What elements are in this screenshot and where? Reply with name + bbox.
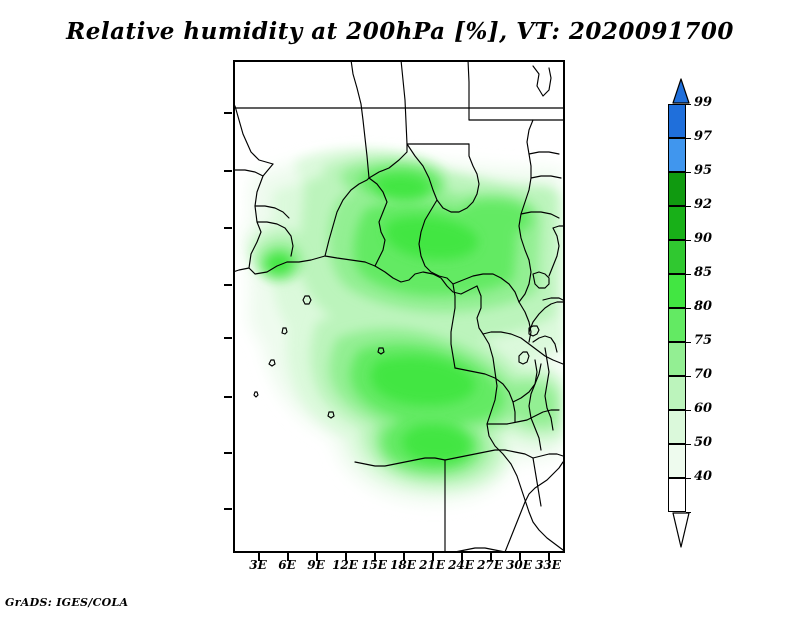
colorbar-tick-bottom bbox=[686, 512, 691, 513]
colorbar-label-75: 75 bbox=[694, 333, 712, 348]
colorbar-label-80: 80 bbox=[694, 299, 712, 314]
colorbar-tick-99 bbox=[686, 104, 691, 105]
humidity-map bbox=[233, 60, 565, 553]
colorbar-tick-50 bbox=[686, 444, 691, 445]
map-panel bbox=[233, 60, 565, 553]
colorbar-segment-75 bbox=[668, 342, 686, 376]
colorbar-label-95: 95 bbox=[694, 163, 712, 178]
colorbar-tick-40 bbox=[686, 478, 691, 479]
colorbar-segment-80 bbox=[668, 308, 686, 342]
colorbar-min-arrow bbox=[672, 512, 690, 548]
colorbar-label-40: 40 bbox=[694, 469, 712, 484]
colorbar-segment-90 bbox=[668, 240, 686, 274]
y-tick-15N bbox=[224, 170, 232, 172]
colorbar-segment-40 bbox=[668, 478, 686, 512]
colorbar-tick-70 bbox=[686, 376, 691, 377]
screenshot-root: Relative humidity at 200hPa [%], VT: 202… bbox=[0, 0, 800, 618]
colorbar-label-92: 92 bbox=[694, 197, 712, 212]
y-tick-EQ bbox=[224, 337, 232, 339]
colorbar-label-99: 99 bbox=[694, 95, 712, 110]
colorbar-tick-60 bbox=[686, 410, 691, 411]
y-tick-10S bbox=[224, 452, 232, 454]
colorbar-segment-99 bbox=[668, 104, 686, 138]
y-tick-15S bbox=[224, 508, 232, 510]
colorbar-segment-85 bbox=[668, 274, 686, 308]
colorbar-label-60: 60 bbox=[694, 401, 712, 416]
colorbar-tick-75 bbox=[686, 342, 691, 343]
colorbar-segment-60 bbox=[668, 410, 686, 444]
colorbar-label-97: 97 bbox=[694, 129, 712, 144]
page-title: Relative humidity at 200hPa [%], VT: 202… bbox=[0, 18, 800, 45]
colorbar-tick-90 bbox=[686, 240, 691, 241]
colorbar-segment-92 bbox=[668, 206, 686, 240]
y-tick-5N bbox=[224, 284, 232, 286]
colorbar-label-70: 70 bbox=[694, 367, 712, 382]
colorbar-segment-97 bbox=[668, 138, 686, 172]
y-tick-10N bbox=[224, 227, 232, 229]
colorbar-segment-95 bbox=[668, 172, 686, 206]
y-tick-20N bbox=[224, 112, 232, 114]
colorbar-segment-70 bbox=[668, 376, 686, 410]
x-axis-label-33E: 33E bbox=[528, 558, 568, 572]
colorbar-tick-95 bbox=[686, 172, 691, 173]
colorbar-tick-80 bbox=[686, 308, 691, 309]
colorbar-max-arrow bbox=[672, 78, 690, 104]
colorbar-tick-92 bbox=[686, 206, 691, 207]
grads-credit: GrADS: IGES/COLA bbox=[5, 596, 128, 609]
colorbar-tick-97 bbox=[686, 138, 691, 139]
colorbar-segment-50 bbox=[668, 444, 686, 478]
colorbar: 999795929085807570605040 bbox=[668, 78, 738, 548]
colorbar-label-90: 90 bbox=[694, 231, 712, 246]
y-tick-5S bbox=[224, 396, 232, 398]
colorbar-label-50: 50 bbox=[694, 435, 712, 450]
colorbar-tick-85 bbox=[686, 274, 691, 275]
colorbar-label-85: 85 bbox=[694, 265, 712, 280]
